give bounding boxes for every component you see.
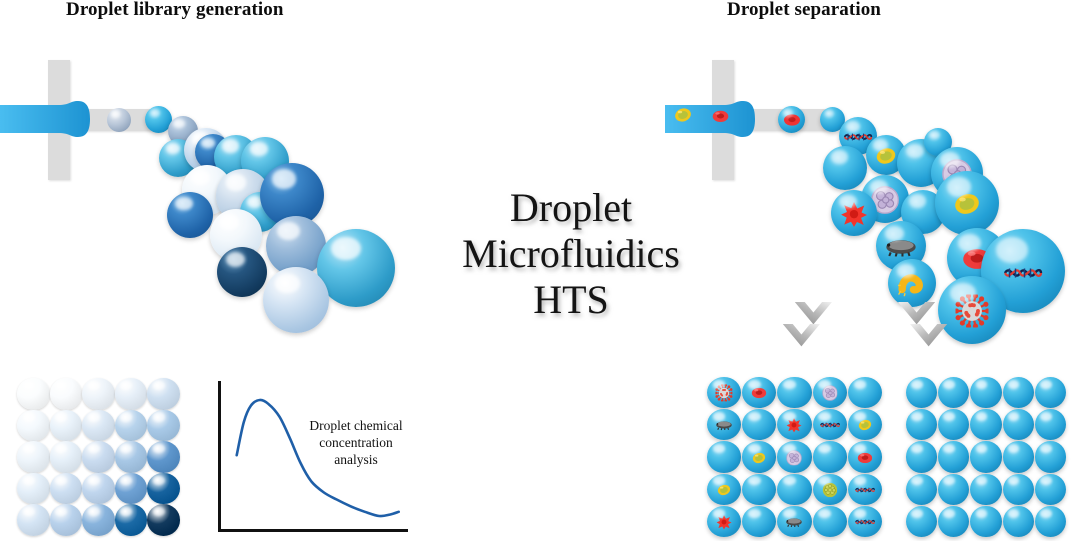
empty-droplet: [1003, 377, 1034, 408]
center-title-line-1: Droplet: [432, 185, 710, 231]
droplet-concentration-gradient-array: [17, 378, 180, 536]
red-star-cell-icon: [840, 201, 867, 227]
empty-droplet: [1035, 409, 1066, 440]
empty-grid-cell: [1003, 441, 1034, 472]
sorted-grid-cell: [777, 474, 811, 505]
heading-droplet-library-generation: Droplet library generation: [66, 0, 284, 21]
empty-grid-cell: [938, 409, 969, 440]
yellow-bacterium-icon: [858, 419, 872, 432]
chevron-icon: [898, 302, 935, 324]
concentration-grid-cell: [50, 441, 83, 473]
empty-droplet: [970, 506, 1001, 537]
empty-droplet: [938, 474, 969, 505]
empty-grid-cell: [1035, 409, 1066, 440]
sorted-empty-droplet-array: [906, 377, 1066, 537]
chart-caption: Droplet chemical concentration analysis: [296, 417, 416, 468]
concentration-droplet: [17, 441, 50, 473]
dna-strand-large-icon: [1004, 262, 1043, 283]
dna-helix-icon: [843, 129, 872, 145]
virus-particle-icon: [716, 385, 733, 402]
empty-grid-cell: [1035, 377, 1066, 408]
concentration-droplet: [17, 410, 50, 442]
concentration-droplet: [82, 441, 115, 473]
sorted-droplet: [742, 474, 776, 505]
empty-grid-cell: [906, 441, 937, 472]
sorted-droplet: [777, 441, 811, 472]
separation-droplet: [935, 171, 999, 235]
concentration-grid-cell: [50, 473, 83, 505]
concentration-droplet: [50, 378, 83, 410]
sorted-droplet: [707, 441, 741, 472]
sorted-grid-cell: [813, 474, 847, 505]
empty-droplet: [1035, 474, 1066, 505]
concentration-grid-cell: [17, 378, 50, 410]
center-title-line-2: Microfluidics: [432, 231, 710, 277]
sorted-droplet: [777, 409, 811, 440]
concentration-droplet: [147, 473, 180, 505]
sorted-droplet: [707, 506, 741, 537]
empty-droplet: [938, 506, 969, 537]
empty-droplet: [1035, 506, 1066, 537]
empty-droplet: [906, 441, 937, 472]
concentration-droplet: [115, 441, 148, 473]
sorted-droplet: [813, 377, 847, 408]
cascade-droplet: [263, 267, 329, 333]
yellow-microbe-large-icon: [954, 192, 981, 216]
center-title: Droplet Microfluidics HTS: [432, 185, 710, 323]
separation-droplet: [831, 190, 877, 236]
concentration-droplet: [82, 473, 115, 505]
sorted-droplet: [848, 474, 882, 505]
cascade-droplet: [217, 247, 267, 297]
concentration-grid-cell: [50, 378, 83, 410]
concentration-grid-cell: [147, 441, 180, 473]
chart-caption-line-3: analysis: [296, 451, 416, 468]
right-inline-droplet-rbc: [778, 106, 805, 133]
concentration-grid-cell: [147, 473, 180, 505]
sorted-droplet: [742, 506, 776, 537]
yellow-microbe-icon: [752, 451, 766, 464]
empty-grid-cell: [1003, 474, 1034, 505]
concentration-droplet: [50, 410, 83, 442]
yellow-bacterium-icon: [875, 146, 896, 165]
red-star-cell-icon: [716, 515, 732, 530]
concentration-grid-cell: [17, 473, 50, 505]
empty-grid-cell: [1035, 474, 1066, 505]
concentration-grid-cell: [50, 410, 83, 442]
red-star-cell-icon: [787, 418, 803, 433]
yellow-bacterium-curved-icon: [898, 271, 926, 296]
empty-droplet: [1035, 377, 1066, 408]
concentration-grid-cell: [82, 504, 115, 536]
center-title-line-3: HTS: [432, 277, 710, 323]
sorted-grid-cell: [707, 441, 741, 472]
figure-root: Droplet library generation Droplet separ…: [0, 0, 1072, 541]
concentration-grid-cell: [147, 504, 180, 536]
left-aqueous-stream: [0, 100, 105, 142]
empty-droplet: [1035, 441, 1066, 472]
sorted-grid-cell: [742, 474, 776, 505]
concentration-droplet: [17, 504, 50, 536]
empty-droplet: [1003, 474, 1034, 505]
sorted-droplet: [707, 377, 741, 408]
sorted-droplet: [813, 409, 847, 440]
sorted-grid-cell: [813, 441, 847, 472]
concentration-droplet: [115, 378, 148, 410]
tardigrade-icon: [716, 420, 733, 430]
sorted-droplet: [848, 377, 882, 408]
concentration-droplet: [115, 473, 148, 505]
concentration-grid-cell: [147, 410, 180, 442]
sorted-grid-cell: [742, 409, 776, 440]
concentration-grid-cell: [17, 410, 50, 442]
green-cell-cluster-icon: [822, 482, 838, 498]
sorted-grid-cell: [777, 441, 811, 472]
empty-droplet: [970, 377, 1001, 408]
concentration-grid-cell: [115, 473, 148, 505]
concentration-grid-cell: [115, 378, 148, 410]
sorted-grid-cell: [813, 506, 847, 537]
yellow-bacterium-icon: [717, 484, 731, 497]
empty-grid-cell: [906, 377, 937, 408]
red-blood-cell-icon: [751, 387, 767, 399]
concentration-grid-cell: [115, 441, 148, 473]
empty-droplet: [906, 474, 937, 505]
right-aqueous-stream: [665, 100, 770, 142]
dna-strand-icon: [855, 517, 875, 528]
chevron-icon: [910, 324, 947, 346]
empty-grid-cell: [1035, 441, 1066, 472]
concentration-droplet: [147, 504, 180, 536]
sorted-droplet: [777, 474, 811, 505]
sorted-grid-cell: [813, 377, 847, 408]
sorted-grid-cell: [777, 409, 811, 440]
sorted-grid-cell: [848, 409, 882, 440]
concentration-droplet: [50, 504, 83, 536]
sorted-droplet: [777, 506, 811, 537]
dna-strand-icon: [820, 420, 840, 431]
empty-droplet: [906, 506, 937, 537]
sorted-droplet: [848, 506, 882, 537]
empty-droplet: [1003, 409, 1034, 440]
sorted-droplet-array-with-cargo: [707, 377, 882, 537]
empty-droplet: [938, 409, 969, 440]
concentration-droplet: [82, 504, 115, 536]
sorted-droplet: [848, 409, 882, 440]
chevron-icon: [795, 302, 832, 324]
sorted-droplet: [777, 377, 811, 408]
left-inline-droplet-1: [107, 108, 131, 132]
empty-droplet: [970, 474, 1001, 505]
empty-grid-cell: [938, 506, 969, 537]
concentration-droplet: [115, 504, 148, 536]
concentration-analysis-chart: Droplet chemical concentration analysis: [218, 381, 413, 533]
empty-grid-cell: [970, 441, 1001, 472]
concentration-grid-cell: [17, 504, 50, 536]
heading-droplet-separation: Droplet separation: [727, 0, 881, 21]
sorted-droplet: [813, 506, 847, 537]
sorted-grid-cell: [813, 409, 847, 440]
concentration-grid-cell: [17, 441, 50, 473]
sorted-grid-cell: [848, 441, 882, 472]
red-blood-cell-icon: [857, 452, 873, 464]
empty-grid-cell: [970, 506, 1001, 537]
purple-cell-cluster-icon: [787, 450, 803, 466]
empty-droplet: [970, 441, 1001, 472]
empty-grid-cell: [906, 409, 937, 440]
sorted-grid-cell: [848, 377, 882, 408]
sorted-droplet: [813, 441, 847, 472]
empty-grid-cell: [1003, 409, 1034, 440]
empty-grid-cell: [1035, 506, 1066, 537]
concentration-droplet: [147, 441, 180, 473]
sorted-grid-cell: [707, 377, 741, 408]
concentration-grid-cell: [115, 504, 148, 536]
concentration-droplet: [147, 410, 180, 442]
empty-droplet: [906, 377, 937, 408]
sorted-droplet: [707, 409, 741, 440]
chart-caption-line-2: concentration: [296, 434, 416, 451]
concentration-droplet: [147, 378, 180, 410]
concentration-droplet: [50, 441, 83, 473]
concentration-grid-cell: [82, 441, 115, 473]
empty-grid-cell: [970, 409, 1001, 440]
empty-grid-cell: [938, 441, 969, 472]
sorted-droplet: [707, 474, 741, 505]
empty-grid-cell: [1003, 506, 1034, 537]
sorted-grid-cell: [707, 409, 741, 440]
tardigrade-icon: [786, 517, 803, 527]
concentration-droplet: [82, 378, 115, 410]
empty-grid-cell: [938, 377, 969, 408]
sorted-droplet: [742, 377, 776, 408]
empty-grid-cell: [938, 474, 969, 505]
chart-caption-line-1: Droplet chemical: [296, 417, 416, 434]
empty-droplet: [1003, 506, 1034, 537]
concentration-droplet: [50, 473, 83, 505]
chevron-icon: [783, 324, 820, 346]
sorted-droplet: [742, 409, 776, 440]
tardigrade-icon: [885, 237, 917, 256]
sorted-droplet: [742, 441, 776, 472]
red-blood-cell-icon: [783, 114, 800, 127]
concentration-grid-cell: [82, 410, 115, 442]
chevron-arrows: [780, 300, 990, 380]
concentration-droplet: [115, 410, 148, 442]
concentration-droplet: [17, 473, 50, 505]
empty-droplet: [938, 441, 969, 472]
concentration-droplet: [17, 378, 50, 410]
dna-strand-thin-icon: [855, 484, 875, 495]
purple-cell-cluster-icon: [822, 385, 838, 401]
concentration-grid-cell: [147, 378, 180, 410]
sorted-grid-cell: [742, 441, 776, 472]
sorted-grid-cell: [777, 377, 811, 408]
sorted-droplet: [813, 474, 847, 505]
concentration-grid-cell: [115, 410, 148, 442]
empty-droplet: [970, 409, 1001, 440]
concentration-droplet: [82, 410, 115, 442]
sorted-grid-cell: [848, 474, 882, 505]
sorted-grid-cell: [848, 506, 882, 537]
empty-droplet: [938, 377, 969, 408]
concentration-grid-cell: [82, 378, 115, 410]
empty-grid-cell: [970, 474, 1001, 505]
separation-droplet: [823, 146, 867, 190]
empty-droplet: [1003, 441, 1034, 472]
cascade-droplet: [167, 192, 213, 238]
sorted-grid-cell: [777, 506, 811, 537]
empty-grid-cell: [906, 506, 937, 537]
sorted-droplet: [848, 441, 882, 472]
empty-grid-cell: [1003, 377, 1034, 408]
empty-grid-cell: [970, 377, 1001, 408]
sorted-grid-cell: [742, 377, 776, 408]
sorted-grid-cell: [707, 474, 741, 505]
empty-droplet: [906, 409, 937, 440]
sorted-grid-cell: [742, 506, 776, 537]
concentration-grid-cell: [82, 473, 115, 505]
concentration-grid-cell: [50, 504, 83, 536]
empty-grid-cell: [906, 474, 937, 505]
sorted-grid-cell: [707, 506, 741, 537]
